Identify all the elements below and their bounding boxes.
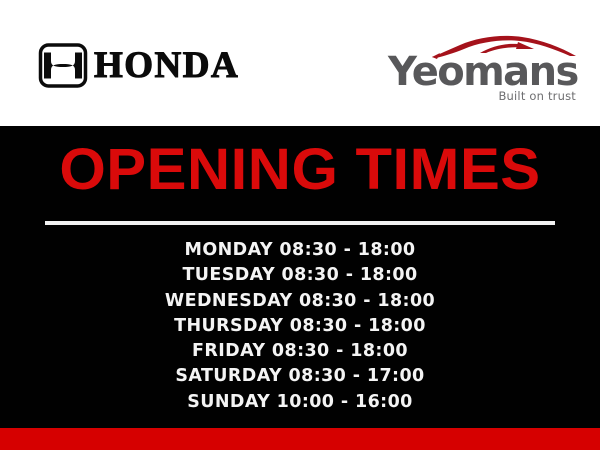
opening-times-poster: HONDA Yeomans Built on trust OPENING TIM… — [0, 0, 600, 450]
title-divider — [45, 221, 555, 225]
hours-row: TUESDAY 08:30 - 18:00 — [0, 263, 600, 288]
yeomans-wordmark: Yeomans — [388, 52, 578, 92]
page-title: OPENING TIMES — [0, 140, 600, 200]
hours-row: FRIDAY 08:30 - 18:00 — [0, 339, 600, 364]
honda-logo: HONDA — [38, 43, 239, 88]
hours-row: WEDNESDAY 08:30 - 18:00 — [0, 289, 600, 314]
hours-row: SUNDAY 10:00 - 16:00 — [0, 390, 600, 415]
header-band: HONDA Yeomans Built on trust — [0, 0, 600, 126]
yeomans-logo: Yeomans Built on trust — [388, 32, 578, 100]
hours-row: SATURDAY 08:30 - 17:00 — [0, 364, 600, 389]
honda-h-emblem — [38, 43, 88, 88]
bottom-accent-bar — [0, 428, 600, 450]
opening-hours-list: MONDAY 08:30 - 18:00 TUESDAY 08:30 - 18:… — [0, 238, 600, 415]
yeomans-tagline: Built on trust — [498, 90, 576, 102]
opening-times-panel: OPENING TIMES MONDAY 08:30 - 18:00 TUESD… — [0, 126, 600, 428]
hours-row: THURSDAY 08:30 - 18:00 — [0, 314, 600, 339]
honda-wordmark: HONDA — [94, 47, 239, 84]
hours-row: MONDAY 08:30 - 18:00 — [0, 238, 600, 263]
